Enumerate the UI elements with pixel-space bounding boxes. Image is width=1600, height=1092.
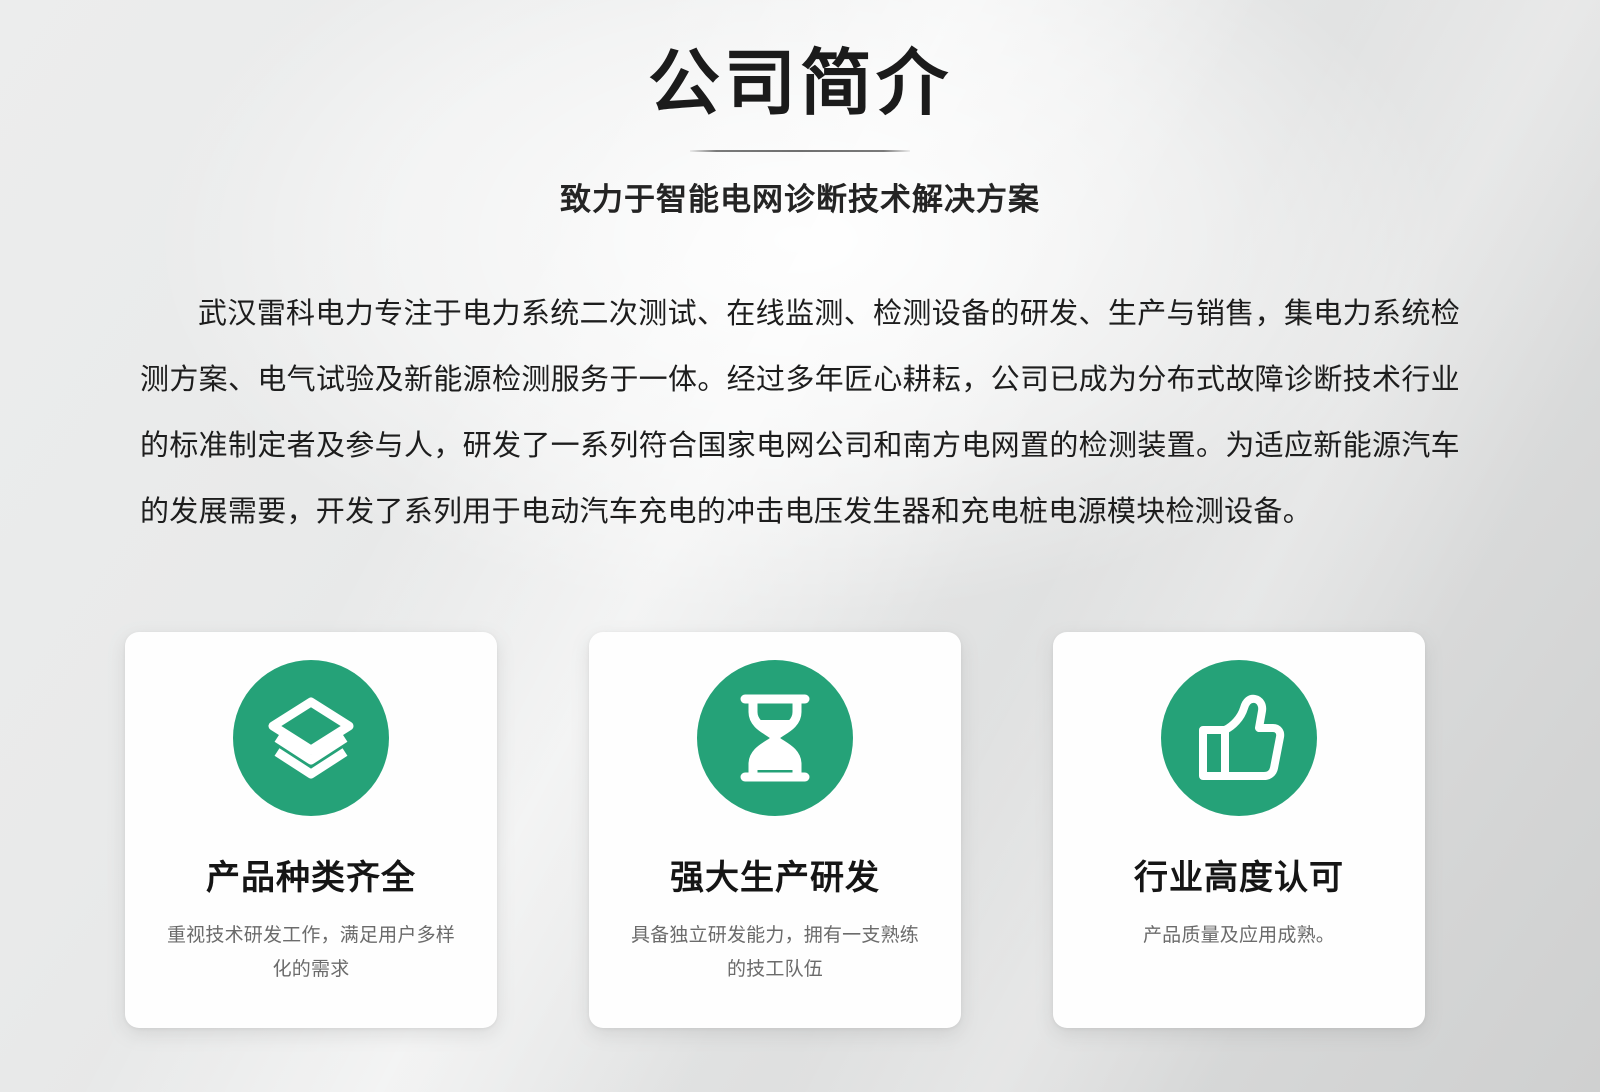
feature-card-title: 行业高度认可 <box>1134 858 1344 899</box>
company-intro-paragraph: 武汉雷科电力专注于电力系统二次测试、在线监测、检测设备的研发、生产与销售，集电力… <box>140 281 1460 545</box>
page-title: 公司简介 <box>0 0 1600 125</box>
feature-card-description: 具备独立研发能力，拥有一支熟练的技工队伍 <box>625 919 925 987</box>
feature-card-title: 强大生产研发 <box>670 858 880 899</box>
company-profile-page: 公司简介 致力于智能电网诊断技术解决方案 武汉雷科电力专注于电力系统二次测试、在… <box>0 0 1600 1092</box>
hourglass-icon <box>697 660 853 816</box>
thumbs-up-icon <box>1161 660 1317 816</box>
title-divider <box>690 150 910 152</box>
layers-icon <box>233 660 389 816</box>
feature-card-description: 重视技术研发工作，满足用户多样化的需求 <box>161 919 461 987</box>
page-subtitle: 致力于智能电网诊断技术解决方案 <box>0 174 1600 219</box>
page-header: 公司简介 致力于智能电网诊断技术解决方案 <box>0 0 1600 219</box>
feature-card-list: 产品种类齐全 重视技术研发工作，满足用户多样化的需求 强大生产研发 具备独立研发… <box>125 632 1425 1028</box>
feature-card-production-rd[interactable]: 强大生产研发 具备独立研发能力，拥有一支熟练的技工队伍 <box>589 632 961 1028</box>
feature-card-industry-recognition[interactable]: 行业高度认可 产品质量及应用成熟。 <box>1053 632 1425 1028</box>
feature-card-description: 产品质量及应用成熟。 <box>1089 919 1389 953</box>
feature-card-product-variety[interactable]: 产品种类齐全 重视技术研发工作，满足用户多样化的需求 <box>125 632 497 1028</box>
feature-card-title: 产品种类齐全 <box>206 858 416 899</box>
